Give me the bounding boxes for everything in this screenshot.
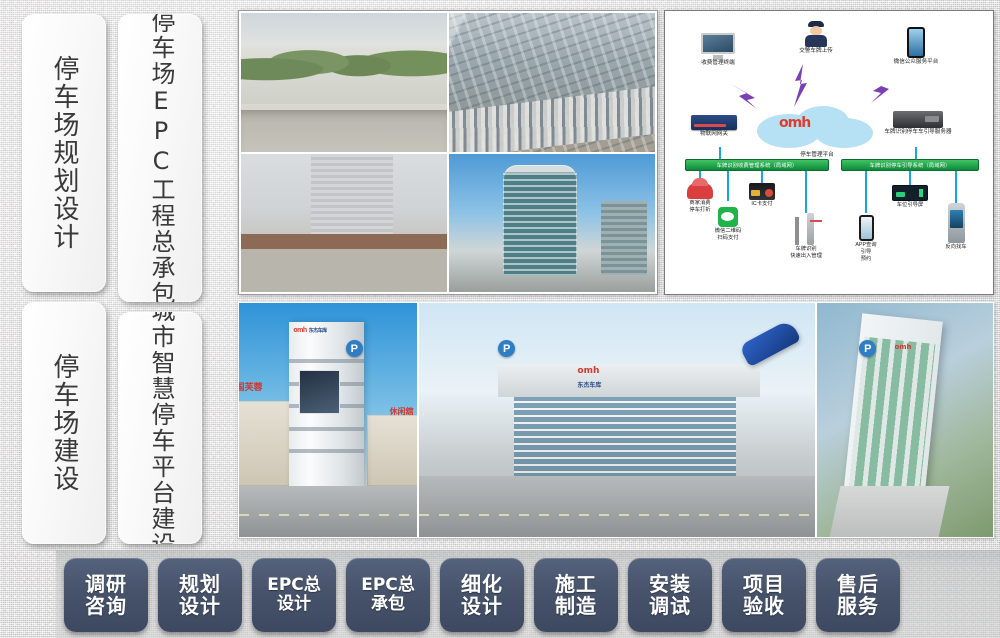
barrier-gate-icon [792, 211, 820, 245]
node-label: 物联网网关 [671, 131, 757, 138]
node-label: 交警车牌上传 [773, 48, 859, 55]
sign-left: 国芙蓉 [239, 380, 262, 393]
render-aerial-parking-tower: P omh [817, 303, 993, 537]
link-line [909, 171, 911, 185]
process-button-row: 调研 咨询 规划 设计 EPC总 设计 EPC总 承包 细化 设计 施工 制造 … [64, 558, 900, 632]
mobile-app-icon [859, 215, 874, 241]
leaf-ic-card-payment: IC卡支付 [731, 183, 793, 208]
parking-system-architecture-diagram: 收费管理终端 交警车牌上传 微信公众服务平台 omh 停车管理平台 物联网网关 … [664, 10, 994, 295]
upper-wall [498, 364, 759, 397]
photo-glass-highrise [449, 154, 655, 293]
photo-aerial-parking-lot [449, 13, 655, 152]
card-parking-planning-design[interactable]: 停车场规划设计 [22, 14, 106, 292]
leaf-label: 车牌识别 快速出入管理 [775, 246, 837, 260]
omh-logo-sub: 东杰车库 [577, 380, 601, 389]
node-iot-gateway: 物联网网关 [671, 115, 757, 138]
photo-lot-brick-building [241, 154, 447, 293]
tower-facade-grid [848, 337, 935, 501]
led-display-icon [892, 185, 928, 201]
node-label: 微信公众服务平台 [873, 59, 959, 66]
leaf-reverse-car-finding: 反向找车 [925, 203, 987, 251]
node-label: 车牌识别停车车引导服务器 [863, 129, 973, 136]
architectural-renderings-panel: 国芙蓉 休闲舘 omh东杰车库 P omh 东杰车库 P P omh [238, 302, 994, 538]
wechat-icon [718, 207, 738, 227]
plaza-ground [419, 476, 815, 537]
link-line [915, 147, 917, 159]
card-label: 停车场EPC工程总承包 [147, 14, 173, 302]
card-smart-city-parking-platform[interactable]: 城市智慧停车平台建设 [118, 312, 202, 544]
card-parking-epc-contracting[interactable]: 停车场EPC工程总承包 [118, 14, 202, 302]
parking-tower-aerial [842, 313, 943, 512]
bolt-connector-icon [851, 73, 901, 109]
process-installation-commissioning[interactable]: 安装 调试 [628, 558, 712, 632]
adjacent-building [601, 201, 646, 276]
omh-logo: omh东杰车库 [293, 327, 326, 334]
kiosk-icon [948, 203, 965, 243]
process-project-acceptance[interactable]: 项目 验收 [722, 558, 806, 632]
node-wechat-public-platform: 微信公众服务平台 [873, 27, 959, 66]
system-plate-parking-guidance: 车牌识别停车引导系统（局域网） [841, 159, 979, 171]
leaf-label: 反向找车 [925, 244, 987, 251]
street-ground [239, 486, 417, 537]
entrance-plaza [829, 486, 949, 537]
parked-cars [241, 256, 447, 286]
left-shop-building [239, 401, 292, 485]
gateway-icon [691, 115, 737, 130]
leaf-label: APP查询 引导 预约 [835, 242, 897, 263]
credit-card-icon [749, 183, 775, 200]
node-guidance-server: 车牌识别停车车引导服务器 [863, 111, 973, 136]
card-label: 停车场建设 [50, 353, 78, 493]
leaf-plate-fast-entry-exit: 车牌识别 快速出入管理 [775, 211, 837, 260]
glass-facade [514, 387, 736, 481]
process-epc-design[interactable]: EPC总 设计 [252, 558, 336, 632]
leaf-wechat-qr-payment: 微信二维码 扫码支付 [697, 207, 759, 242]
omh-logo: omh [894, 343, 911, 351]
process-flow-bar: 调研 咨询 规划 设计 EPC总 设计 EPC总 承包 细化 设计 施工 制造 … [0, 546, 1000, 638]
car-icon [687, 183, 713, 199]
link-line [955, 171, 957, 205]
leaf-label: 微信二维码 扫码支付 [697, 228, 759, 242]
process-planning-design[interactable]: 规划 设计 [158, 558, 242, 632]
project-photo-grid [238, 10, 658, 295]
monitor-icon [701, 33, 735, 59]
smartphone-icon [907, 27, 925, 58]
sign-right: 休闲舘 [389, 406, 413, 417]
server-icon [893, 111, 943, 128]
node-traffic-police-upload: 交警车牌上传 [773, 21, 859, 55]
link-line [805, 171, 807, 213]
system-plate-toll-management: 车牌识别收费管理系统（局域网） [685, 159, 829, 171]
bolt-connector-icon [789, 63, 815, 109]
policeman-icon [805, 21, 827, 47]
parking-p-mark: P [498, 340, 515, 357]
render-parking-tower-street: 国芙蓉 休闲舘 omh东杰车库 P [239, 303, 417, 537]
process-detailed-design[interactable]: 细化 设计 [440, 558, 524, 632]
omh-logo-sub: 东杰车库 [309, 328, 327, 334]
process-after-sales-service[interactable]: 售后 服务 [816, 558, 900, 632]
link-line [719, 147, 721, 159]
service-card-column: 停车场规划设计 停车场EPC工程总承包 停车场建设 城市智慧停车平台建设 [14, 6, 230, 546]
omh-logo: omh [577, 366, 599, 376]
card-parking-construction[interactable]: 停车场建设 [22, 302, 106, 544]
tower-billboard [299, 370, 340, 413]
road-marking [239, 514, 417, 516]
process-construction-manufacturing[interactable]: 施工 制造 [534, 558, 618, 632]
blue-car-graphic [739, 319, 801, 367]
cloud-label: 停车管理平台 [757, 150, 877, 158]
road-marking [419, 514, 815, 516]
process-research-consulting[interactable]: 调研 咨询 [64, 558, 148, 632]
card-label: 停车场规划设计 [50, 55, 78, 251]
leaf-app-query-guidance: APP查询 引导 预约 [835, 215, 897, 263]
node-label: 收费管理终端 [675, 60, 761, 67]
process-epc-contracting[interactable]: EPC总 承包 [346, 558, 430, 632]
right-shop-building [367, 415, 417, 485]
render-garage-building: omh 东杰车库 P [419, 303, 815, 537]
cloud-platform: omh 停车管理平台 [757, 106, 877, 150]
node-toll-management-terminal: 收费管理终端 [675, 33, 761, 67]
link-line [865, 171, 867, 213]
card-label: 城市智慧停车平台建设 [147, 312, 173, 544]
photo-street-parking-lot [241, 13, 447, 152]
omh-logo: omh [779, 115, 810, 131]
